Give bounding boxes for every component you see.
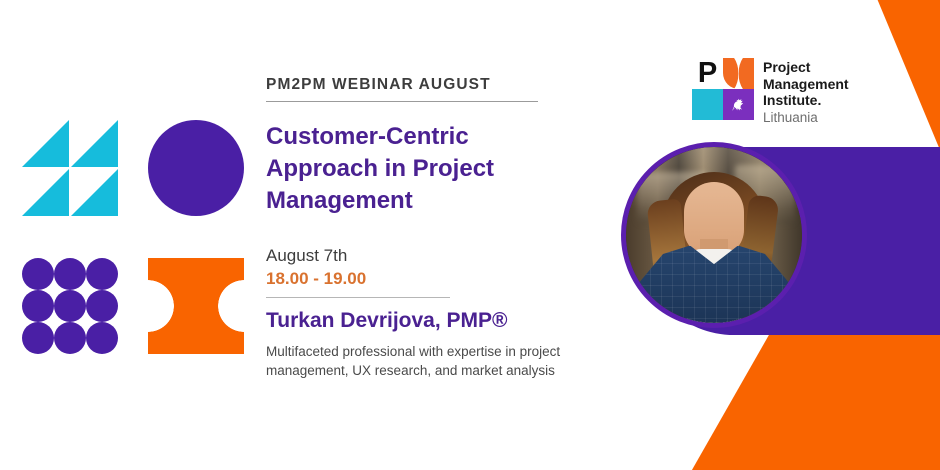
- cyan-triangles-glyph: [22, 120, 118, 216]
- dot-cell: [22, 322, 54, 354]
- pmi-logo-text: Project Management Institute. Lithuania: [763, 58, 849, 125]
- logo-butterfly-icon: [723, 58, 754, 89]
- event-date: August 7th: [266, 246, 646, 266]
- dot-cell: [54, 290, 86, 322]
- dot-cell: [22, 290, 54, 322]
- dot-cell: [86, 258, 118, 290]
- logo-line-project: Project: [763, 59, 849, 76]
- event-time: 18.00 - 19.00: [266, 269, 450, 298]
- pmi-logo-mark: P: [692, 58, 754, 120]
- dot-cell: [22, 258, 54, 290]
- webinar-banner: PM2PM WEBINAR AUGUST Customer-Centric Ap…: [0, 0, 940, 470]
- banner-content: PM2PM WEBINAR AUGUST Customer-Centric Ap…: [266, 76, 646, 381]
- lens-half-left: [148, 120, 196, 216]
- speaker-name: Turkan Devrijova, PMP®: [266, 309, 646, 333]
- logo-letter-p-icon: P: [692, 58, 723, 89]
- purple-dots-glyph: [22, 258, 118, 354]
- triangle-cell: [71, 169, 118, 216]
- triangle-cell: [71, 120, 118, 167]
- triangle-cell: [22, 169, 69, 216]
- logo-bowtie-icon: [692, 89, 723, 120]
- avatar-image: [626, 147, 802, 323]
- dot-cell: [54, 258, 86, 290]
- eyebrow-label: PM2PM WEBINAR AUGUST: [266, 76, 538, 102]
- logo-chapter-lithuania: Lithuania: [763, 110, 849, 126]
- purple-lens-glyph: [148, 120, 244, 216]
- dot-cell: [86, 322, 118, 354]
- orange-bowtie-glyph: [148, 258, 244, 354]
- dot-cell: [86, 290, 118, 322]
- speaker-avatar: [621, 142, 807, 328]
- pmi-lithuania-logo: P Project Management Institute. Lithuani…: [692, 58, 849, 125]
- dot-cell: [54, 322, 86, 354]
- logo-vytis-knight-icon: [723, 89, 754, 120]
- banner-headline: Customer-Centric Approach in Project Man…: [266, 121, 516, 217]
- lens-half-right: [196, 120, 244, 216]
- logo-line-institute: Institute.: [763, 92, 849, 109]
- triangle-cell: [22, 120, 69, 167]
- speaker-bio: Multifaceted professional with expertise…: [266, 342, 638, 381]
- orange-corner-wedge-bottom-right: [660, 333, 940, 470]
- logo-line-management: Management: [763, 76, 849, 93]
